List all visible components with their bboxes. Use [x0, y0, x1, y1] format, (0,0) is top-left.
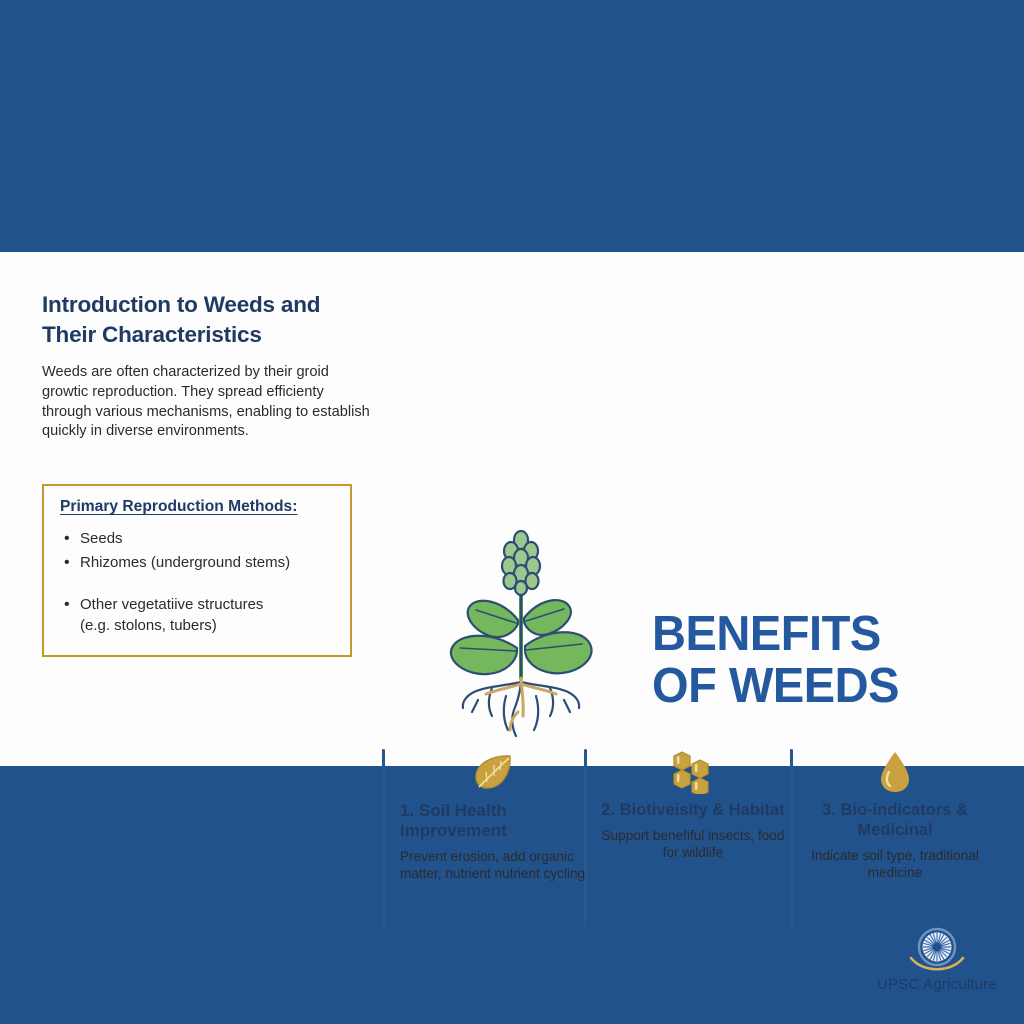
content-panel: Introduction to Weeds and Their Characte… — [0, 252, 1024, 766]
intro-section: Introduction to Weeds and Their Characte… — [42, 290, 374, 442]
page-title: BENEFITS OF WEEDS — [652, 609, 988, 713]
water-drop-icon — [802, 749, 988, 795]
benefit-title: 1. Soil Health Improvement — [400, 801, 586, 842]
benefit-description: Prevent erosion, add organic matter, nut… — [400, 848, 586, 883]
list-item-label: Other vegetatiive structures — [80, 596, 263, 613]
benefit-card-1: 1. Soil Health Improvement Prevent erosi… — [400, 749, 586, 883]
list-item-label: Rhizomes (underground stems) — [80, 554, 290, 571]
benefit-description: Support benefiful insects, food for wild… — [600, 827, 786, 862]
list-item: Other vegetatiive structures (e.g. stolo… — [58, 594, 336, 638]
reproduction-box-title: Primary Reproduction Methods: — [60, 498, 336, 516]
benefit-title: 3. Bio-indicators & Medicinal — [802, 801, 988, 841]
list-item-sublabel: (e.g. stolons, tubers) — [80, 615, 336, 637]
reproduction-methods-box: Primary Reproduction Methods: Seeds Rhiz… — [42, 484, 352, 657]
ashoka-chakra-wheel-icon — [862, 928, 1012, 974]
brand-logo: UPSC Agriculture — [862, 928, 1012, 993]
benefit-title: 2. Biotiveisity & Habitat — [600, 801, 786, 821]
reproduction-methods-list: Seeds Rhizomes (underground stems) Other… — [58, 528, 336, 637]
headline-line-2: OF WEEDS — [652, 661, 988, 713]
intro-body: Weeds are often characterized by their g… — [42, 363, 374, 442]
intro-title: Introduction to Weeds and Their Characte… — [42, 290, 374, 349]
benefits-columns: 1. Soil Health Improvement Prevent erosi… — [382, 749, 1002, 927]
headline-line-1: BENEFITS — [652, 609, 988, 661]
benefit-card-3: 3. Bio-indicators & Medicinal Indicate s… — [802, 749, 988, 881]
list-item: Rhizomes (underground stems) — [58, 552, 336, 574]
column-divider — [382, 749, 385, 927]
list-item: Seeds — [58, 528, 336, 550]
list-item-label: Seeds — [80, 530, 123, 547]
honeycomb-icon — [600, 749, 786, 795]
leaf-icon — [400, 749, 586, 795]
brand-name: UPSC Agriculture — [862, 976, 1012, 993]
benefit-card-2: 2. Biotiveisity & Habitat Support benefi… — [600, 749, 786, 862]
weed-plant-illustration — [432, 520, 610, 742]
column-divider — [790, 749, 793, 927]
benefit-description: Indicate soil type, traditional medicine — [802, 847, 988, 882]
infographic-canvas: Introduction to Weeds and Their Characte… — [0, 0, 1024, 1024]
